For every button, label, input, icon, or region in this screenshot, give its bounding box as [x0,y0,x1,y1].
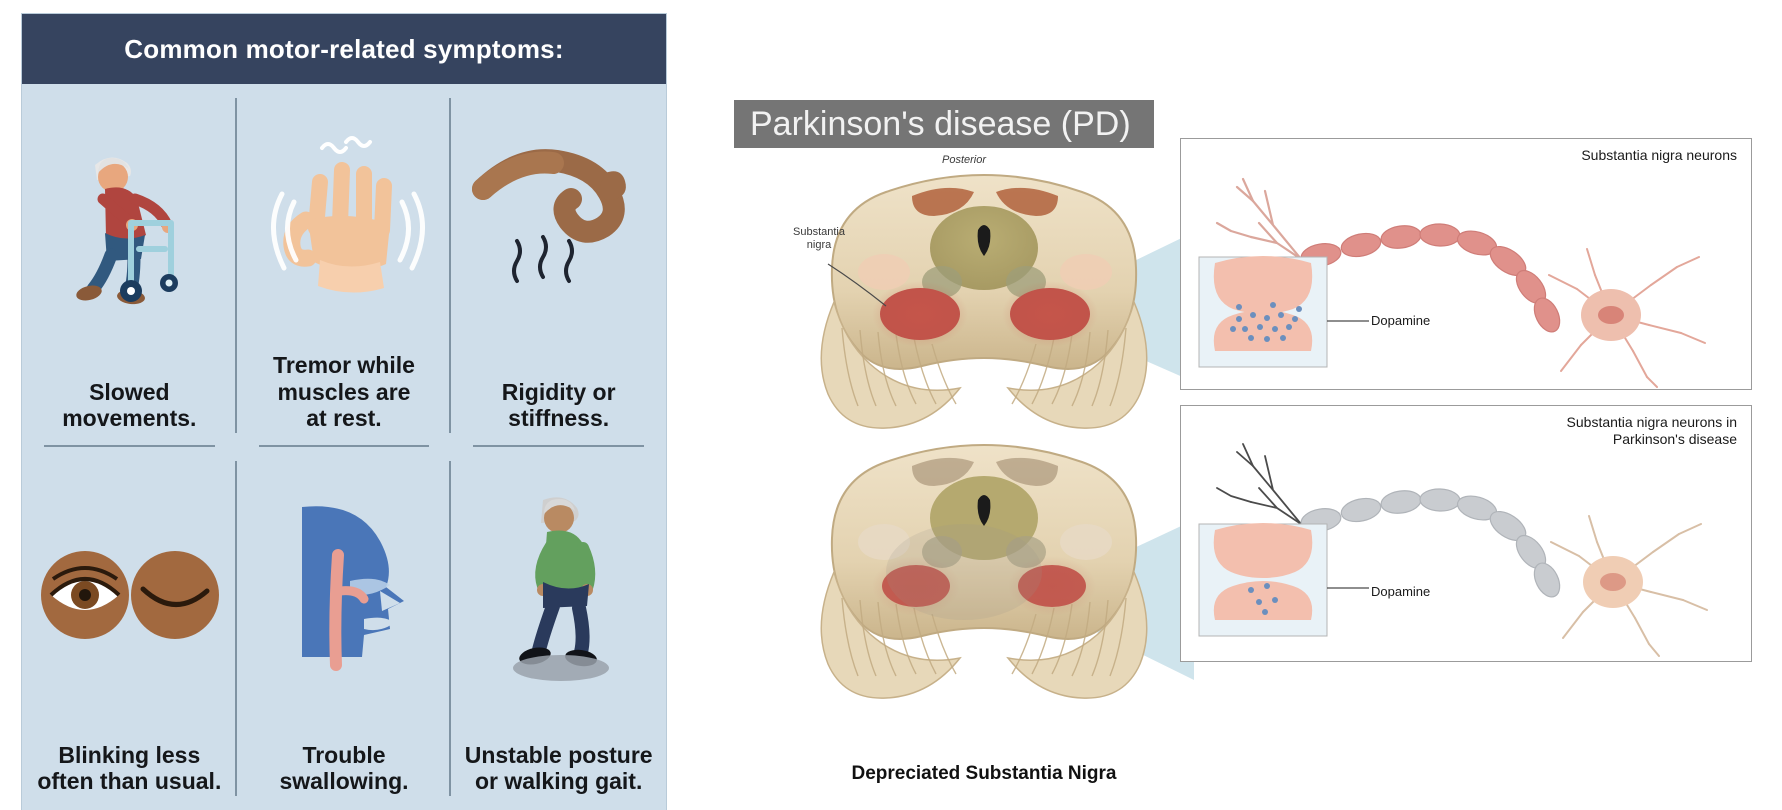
pd-title-bar: Parkinson's disease (PD) [734,100,1154,148]
symptom-label: Unstable posture or walking gait. [465,742,653,794]
symptom-label: Slowed movements. [62,379,196,431]
label-dopamine-pd: Dopamine [1371,584,1430,599]
caption-depreciated-substantia-nigra: Depreciated Substantia Nigra [764,763,1204,785]
healthy-neuron-diagram [1181,139,1751,389]
symptoms-header: Common motor-related symptoms: [22,14,666,84]
symptom-label: Tremor while muscles are at rest. [273,352,415,431]
shaking-hand-icon [243,90,446,348]
person-with-walker-icon [28,90,231,375]
open-and-closed-eye-icon [28,453,231,738]
pd-title: Parkinson's disease (PD) [750,105,1131,144]
symptom-label: Rigidity or stiffness. [502,379,616,431]
parkinsons-disease-panel: Parkinson's disease (PD) [734,100,1760,806]
symptom-cell-rigidity-stiffness: Rigidity or stiffness. [451,84,666,447]
symptoms-grid: Slowed movements. [22,84,666,810]
inset-pd-neurons: Substantia nigra neurons in Parkinson's … [1180,405,1752,662]
brain-section-depreciated [764,422,1204,742]
symptom-cell-resting-tremor: Tremor while muscles are at rest. [237,84,452,447]
label-dopamine-healthy: Dopamine [1371,313,1430,328]
symptom-cell-postural-instability: Unstable posture or walking gait. [451,447,666,810]
motor-symptoms-panel: Common motor-related symptoms: [22,14,666,810]
inset-healthy-neurons: Substantia nigra neurons [1180,138,1752,390]
stooped-walking-person-icon [457,453,660,738]
symptom-label: Blinking less often than usual. [37,742,221,794]
stiff-arm-icon [457,90,660,375]
symptom-cell-reduced-blinking: Blinking less often than usual. [22,447,237,810]
inset-title-pd-neurons: Substantia nigra neurons in Parkinson's … [1567,414,1737,448]
symptom-cell-dysphagia: Trouble swallowing. [237,447,452,810]
symptom-label: Trouble swallowing. [279,742,408,794]
label-posterior-healthy: Posterior [942,154,986,166]
head-throat-profile-icon [243,453,446,738]
inset-title-healthy-neurons: Substantia nigra neurons [1581,147,1737,164]
page-title: Common motor-related symptoms: [124,34,563,65]
symptom-cell-slowed-movements: Slowed movements. [22,84,237,447]
label-substantia-nigra: Substantia nigra [786,226,852,251]
